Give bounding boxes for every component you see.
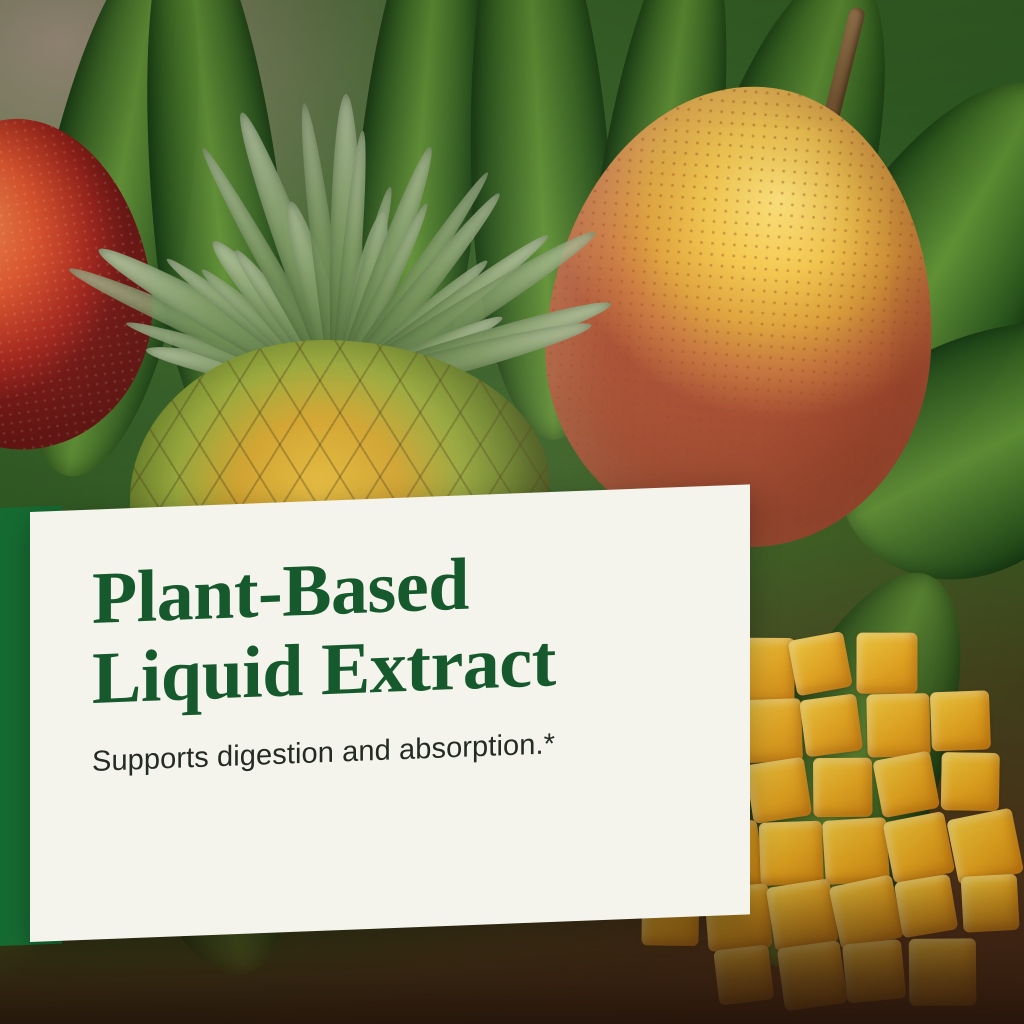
mango-cube — [866, 693, 930, 757]
mango-cube — [941, 752, 1000, 811]
mango-cube — [799, 693, 863, 757]
mango-cube — [872, 750, 939, 817]
mango-cube — [856, 633, 917, 694]
caption-content: Plant-Based Liquid Extract Supports dige… — [92, 535, 732, 778]
page-title: Plant-Based Liquid Extract — [92, 535, 732, 719]
mango-cube — [813, 758, 873, 818]
mango-cube — [883, 811, 956, 884]
mango-cube — [745, 757, 812, 824]
image-canvas: Plant-Based Liquid Extract Supports dige… — [0, 0, 1024, 1024]
mango-cube — [930, 690, 992, 752]
mango-cube — [787, 631, 853, 697]
